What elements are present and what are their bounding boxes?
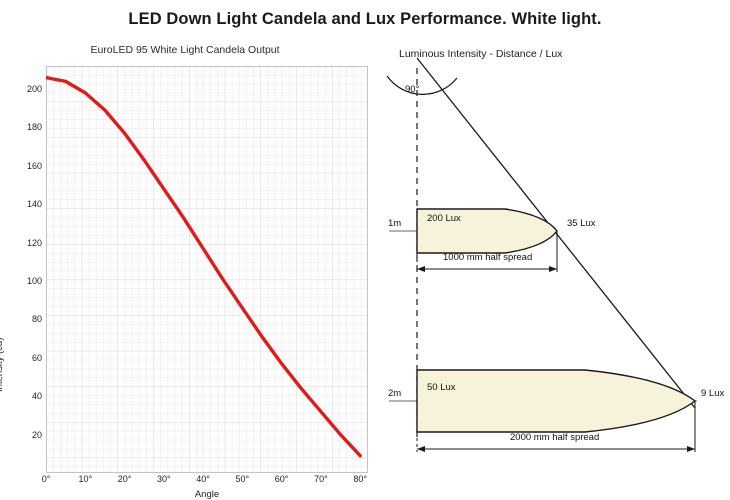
y-axis-ticks: 20406080100120140160180200 [0, 66, 46, 473]
y-tick-label: 40 [0, 391, 46, 401]
x-tick-label: 40° [196, 474, 210, 484]
plot-area [46, 66, 368, 473]
distance-label-1m: 1m [388, 218, 401, 229]
page-title: LED Down Light Candela and Lux Performan… [0, 10, 730, 29]
dimension-arrow-left-1m [417, 266, 425, 272]
candela-plot [46, 66, 368, 473]
edge-lux-label-2m: 9 Lux [701, 388, 724, 399]
spread-label-1m: 1000 mm half spread [443, 252, 532, 263]
x-tick-label: 80° [353, 474, 367, 484]
x-tick-label: 50° [236, 474, 250, 484]
dimension-arrow-right-1m [549, 266, 557, 272]
center-lux-label-1m: 200 Lux [427, 213, 461, 224]
lux-distance-diagram [385, 40, 730, 473]
x-axis-label: Angle [46, 489, 368, 500]
y-tick-label: 100 [0, 276, 46, 286]
y-tick-label: 60 [0, 353, 46, 363]
distance-label-2m: 2m [388, 388, 401, 399]
x-tick-label: 0° [42, 474, 51, 484]
y-tick-label: 180 [0, 122, 46, 132]
screenshot-root: LED Down Light Candela and Lux Performan… [0, 0, 730, 473]
x-tick-label: 20° [118, 474, 132, 484]
x-tick-label: 10° [78, 474, 92, 484]
dimension-arrow-left-2m [417, 446, 425, 452]
dimension-arrow-right-2m [687, 446, 695, 452]
x-tick-label: 70° [314, 474, 328, 484]
edge-lux-label-1m: 35 Lux [567, 218, 596, 229]
y-tick-label: 200 [0, 84, 46, 94]
x-axis-ticks: 0°10°20°30°40°50°60°70°80° [46, 473, 368, 489]
beam-shape-2m [417, 370, 695, 432]
x-tick-label: 30° [157, 474, 171, 484]
y-axis-label: Intensity (cd) [0, 338, 5, 392]
beam-angle-label: 90° [405, 84, 419, 95]
beam-angle-arc [387, 76, 457, 94]
lux-diagram-panel: Luminous Intensity - Distance / Lux [385, 40, 730, 473]
spread-label-2m: 2000 mm half spread [510, 432, 599, 443]
candela-chart-panel: EuroLED 95 White Light Candela Output 20… [0, 40, 385, 473]
y-tick-label: 20 [0, 430, 46, 440]
y-tick-label: 120 [0, 238, 46, 248]
chart-title: EuroLED 95 White Light Candela Output [0, 44, 370, 56]
x-tick-label: 60° [275, 474, 289, 484]
y-tick-label: 160 [0, 161, 46, 171]
center-lux-label-2m: 50 Lux [427, 382, 456, 393]
y-tick-label: 140 [0, 199, 46, 209]
y-tick-label: 80 [0, 314, 46, 324]
